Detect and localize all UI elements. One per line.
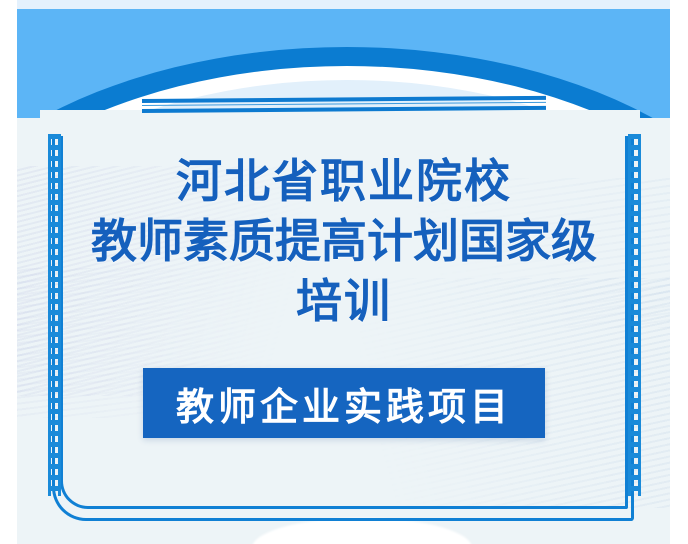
ladder-right-rungs — [631, 134, 638, 496]
rule-bottom-line — [142, 106, 546, 113]
top-edge-strip — [17, 0, 670, 9]
double-rule-decoration — [142, 97, 546, 119]
subtitle-banner-label: 教师企业实践项目 — [176, 376, 512, 431]
ladder-left-rungs — [51, 134, 58, 496]
poster-title: 河北省职业院校 教师素质提高计划国家级 培训 — [60, 152, 628, 331]
subtitle-banner: 教师企业实践项目 — [143, 368, 545, 438]
title-line-3: 培训 — [60, 272, 628, 332]
ladder-decoration-right — [628, 134, 641, 496]
title-line-1: 河北省职业院校 — [60, 152, 628, 212]
bottom-glow-decor — [252, 518, 472, 544]
ladder-right-rail — [638, 134, 641, 496]
title-line-2: 教师素质提高计划国家级 — [60, 212, 628, 272]
poster-canvas: 河北省职业院校 教师素质提高计划国家级 培训 教师企业实践项目 — [0, 0, 688, 544]
